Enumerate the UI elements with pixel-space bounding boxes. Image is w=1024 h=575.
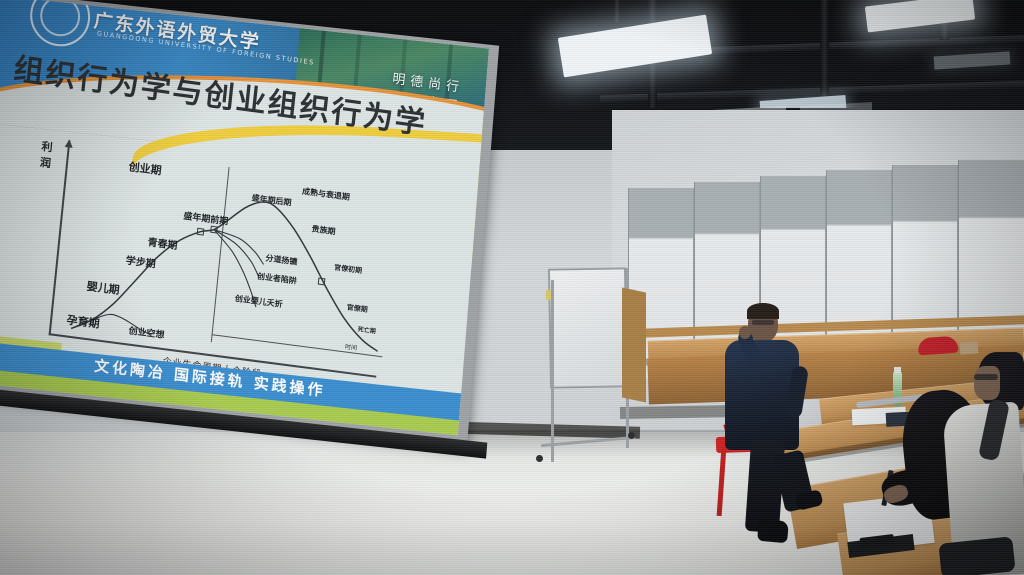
baseboard bbox=[620, 405, 740, 419]
whiteboard-leg bbox=[551, 280, 554, 462]
presentation-slide: 广东外语外贸大学 GUANGDONG UNIVERSITY OF FOREIGN… bbox=[0, 0, 489, 435]
classroom-scene: 广东外语外贸大学 GUANGDONG UNIVERSITY OF FOREIGN… bbox=[0, 0, 1024, 575]
observer-lap bbox=[938, 536, 1015, 575]
side-counter bbox=[622, 287, 646, 402]
presenter-shoe bbox=[757, 519, 789, 544]
small-box-object bbox=[960, 341, 979, 354]
presenter-glasses-icon bbox=[752, 320, 774, 325]
whiteboard[interactable] bbox=[548, 267, 628, 388]
red-cap-object bbox=[917, 336, 958, 356]
presenter-hand bbox=[739, 326, 751, 339]
presenter-hair bbox=[747, 303, 779, 319]
observer-glasses-icon bbox=[974, 374, 998, 380]
whiteboard-caster bbox=[628, 432, 635, 439]
ceiling-hanger bbox=[614, 0, 620, 22]
whiteboard-caster bbox=[536, 455, 543, 462]
university-logo-icon bbox=[28, 0, 92, 49]
observer-face bbox=[974, 366, 1000, 400]
projection-screen: 广东外语外贸大学 GUANGDONG UNIVERSITY OF FOREIGN… bbox=[0, 0, 503, 465]
bottle-cap bbox=[894, 367, 901, 373]
